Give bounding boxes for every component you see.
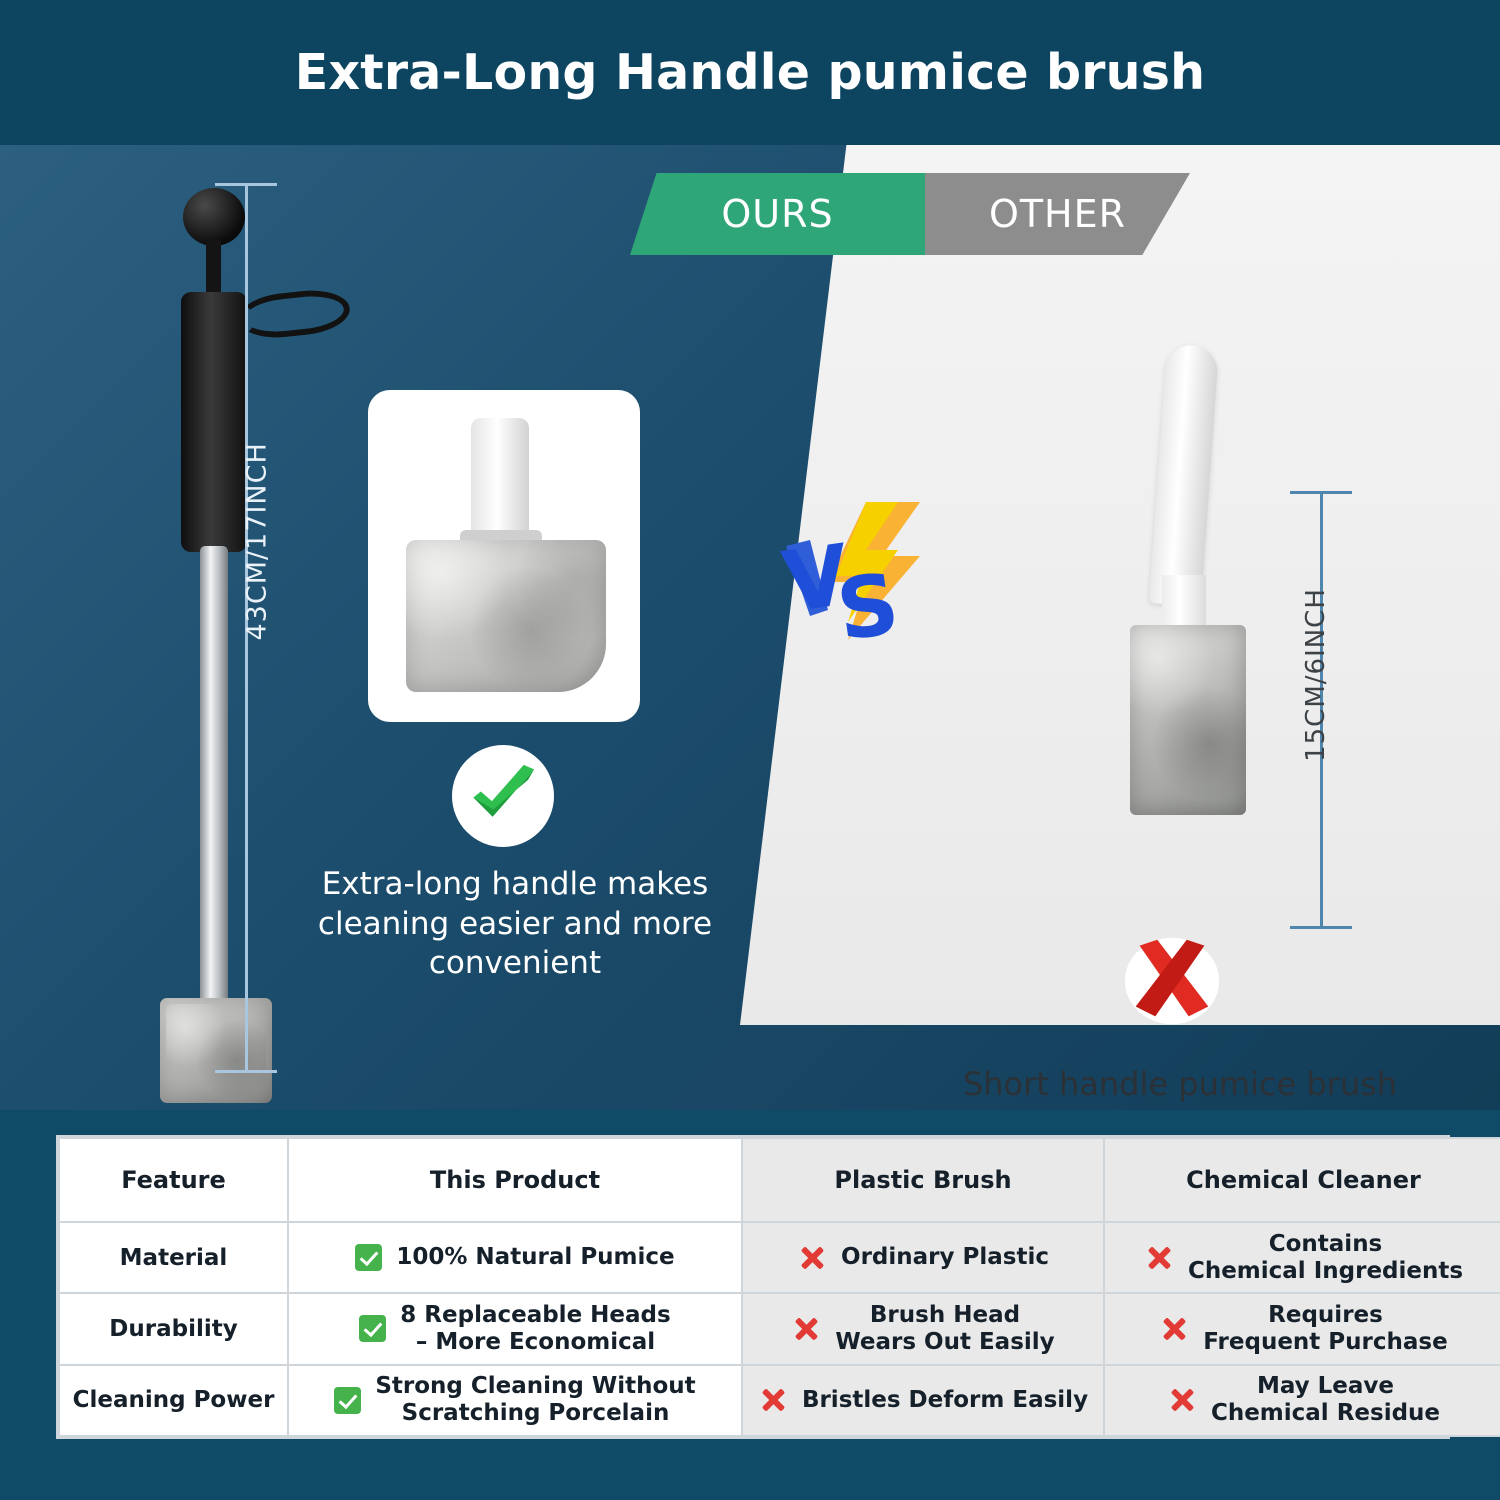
ours-dimension-label: 43CM/17INCH	[242, 501, 273, 641]
cell-text: RequiresFrequent Purchase	[1203, 1302, 1447, 1356]
cell-text: May LeaveChemical Residue	[1211, 1373, 1440, 1427]
cell-feature: Cleaning Power	[59, 1365, 288, 1436]
other-caption: Short handle pumice brush	[880, 1065, 1480, 1103]
cross-icon	[791, 1314, 821, 1344]
table-row: Durability 8 Replaceable Heads– More Eco…	[59, 1293, 1500, 1364]
cell-feature: Durability	[59, 1293, 288, 1364]
photo-handle	[471, 418, 529, 536]
comparison-table: Feature This Product Plastic Brush Chemi…	[56, 1135, 1450, 1439]
cell-this-product: Strong Cleaning WithoutScratching Porcel…	[288, 1365, 742, 1436]
vs-icon: V S	[770, 490, 940, 660]
header-plastic-brush: Plastic Brush	[742, 1138, 1104, 1222]
cross-icon	[758, 1385, 788, 1415]
cell-text: ContainsChemical Ingredients	[1188, 1231, 1463, 1285]
vs-badge: V S	[770, 490, 940, 660]
cross-icon	[1118, 931, 1226, 1031]
cell-text: Bristles Deform Easily	[802, 1387, 1088, 1414]
header-this-product: This Product	[288, 1138, 742, 1222]
table-row: Material 100% Natural Pumice Ordinary Pl…	[59, 1222, 1500, 1293]
check-icon	[334, 1387, 361, 1414]
cell-text: Ordinary Plastic	[841, 1244, 1049, 1271]
cell-text: Strong Cleaning WithoutScratching Porcel…	[375, 1373, 695, 1427]
page-title: Extra-Long Handle pumice brush	[295, 44, 1205, 101]
table-header-row: Feature This Product Plastic Brush Chemi…	[59, 1138, 1500, 1222]
ours-dimension-line: 43CM/17INCH	[215, 175, 275, 1080]
dimension-cap-bottom	[1290, 926, 1352, 929]
check-icon	[466, 759, 540, 833]
other-dimension-line: 15CM/6INCH	[1268, 485, 1338, 935]
photo-pumice-stone	[406, 540, 606, 692]
cell-feature: Material	[59, 1222, 288, 1293]
header-banner: Extra-Long Handle pumice brush	[0, 0, 1500, 145]
short-handle	[1149, 344, 1219, 607]
header-feature: Feature	[59, 1138, 288, 1222]
cell-chemical: RequiresFrequent Purchase	[1104, 1293, 1500, 1364]
cell-this-product: 100% Natural Pumice	[288, 1222, 742, 1293]
short-pumice-head	[1130, 625, 1246, 815]
cell-plastic: Bristles Deform Easily	[742, 1365, 1104, 1436]
cross-icon	[1159, 1314, 1189, 1344]
header-chemical-cleaner: Chemical Cleaner	[1104, 1138, 1500, 1222]
cross-icon	[1167, 1385, 1197, 1415]
ours-caption: Extra-long handle makes cleaning easier …	[290, 865, 740, 984]
cell-plastic: Ordinary Plastic	[742, 1222, 1104, 1293]
cell-text: Brush HeadWears Out Easily	[835, 1302, 1054, 1356]
other-dimension-label: 15CM/6INCH	[1301, 585, 1331, 765]
cross-icon	[797, 1243, 827, 1273]
tab-other: OTHER	[925, 173, 1190, 255]
check-badge	[452, 745, 554, 847]
tab-ours: OURS	[630, 173, 925, 255]
cross-icon	[1144, 1243, 1174, 1273]
cell-plastic: Brush HeadWears Out Easily	[742, 1293, 1104, 1364]
cell-text: 100% Natural Pumice	[396, 1244, 674, 1271]
cell-text: 8 Replaceable Heads– More Economical	[400, 1302, 670, 1356]
check-icon	[359, 1315, 386, 1342]
product-photo-card	[368, 390, 640, 722]
cross-badge	[1118, 935, 1226, 1027]
dimension-cap-bottom	[215, 1070, 277, 1073]
comparison-ribbon: OURS OTHER	[630, 173, 1190, 255]
comparison-stage: OURS OTHER 43CM/17INCH	[0, 145, 1500, 1110]
cell-chemical: ContainsChemical Ingredients	[1104, 1222, 1500, 1293]
infographic-page: Extra-Long Handle pumice brush OURS OTHE…	[0, 0, 1500, 1500]
cell-chemical: May LeaveChemical Residue	[1104, 1365, 1500, 1436]
check-icon	[355, 1244, 382, 1271]
table-row: Cleaning Power Strong Cleaning WithoutSc…	[59, 1365, 1500, 1436]
cell-this-product: 8 Replaceable Heads– More Economical	[288, 1293, 742, 1364]
